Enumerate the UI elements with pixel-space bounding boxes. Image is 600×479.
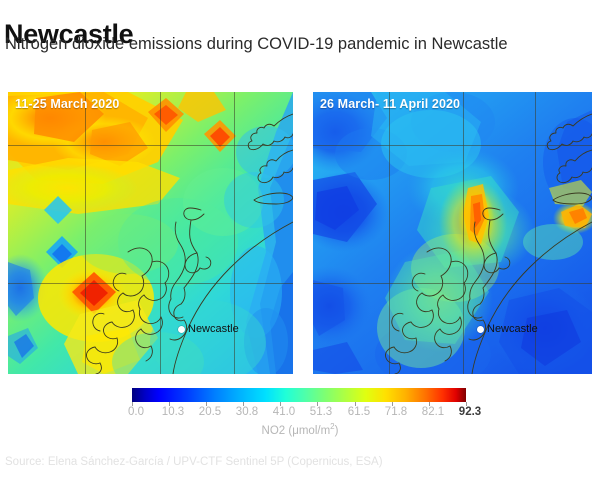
panel-label-before: 11-25 March 2020 bbox=[15, 97, 119, 111]
city-dot-icon bbox=[178, 326, 185, 333]
colorbar-axis-label: NO2 (μmol/m2) bbox=[0, 422, 600, 437]
map-panel-before[interactable]: Newcastle 11-25 March 2020 bbox=[8, 92, 293, 374]
colorbar-gradient bbox=[132, 388, 466, 402]
no2-heatmap-after bbox=[313, 92, 592, 374]
city-label: Newcastle bbox=[188, 323, 239, 335]
colorbar-tick-4: 41.0 bbox=[273, 406, 295, 418]
visualization-root: Newcastle Nitrogen dioxide emissions dur… bbox=[0, 0, 600, 479]
colorbar-axis-label-prefix: NO2 (μmol/m bbox=[262, 425, 331, 437]
colorbar-tick-1: 10.3 bbox=[162, 406, 184, 418]
colorbar-tick-3: 30.8 bbox=[236, 406, 258, 418]
city-label: Newcastle bbox=[487, 323, 538, 335]
colorbar-tick-labels: 0.0 10.3 20.5 30.8 41.0 51.3 61.5 71.8 8… bbox=[0, 406, 600, 422]
source-credit: Source: Elena Sánchez-García / UPV-CTF S… bbox=[5, 456, 383, 468]
colorbar-tick-7: 71.8 bbox=[385, 406, 407, 418]
panel-label-after: 26 March- 11 April 2020 bbox=[320, 97, 460, 111]
city-dot-icon bbox=[477, 326, 484, 333]
colorbar-tick-0: 0.0 bbox=[128, 406, 144, 418]
colorbar-axis-label-suffix: ) bbox=[335, 425, 339, 437]
colorbar: 0.0 10.3 20.5 30.8 41.0 51.3 61.5 71.8 8… bbox=[0, 386, 600, 446]
colorbar-tick-9: 92.3 bbox=[459, 406, 481, 418]
map-panel-after[interactable]: Newcastle 26 March- 11 April 2020 bbox=[313, 92, 592, 374]
map-panels: Newcastle 11-25 March 2020 bbox=[0, 92, 600, 374]
colorbar-tick-2: 20.5 bbox=[199, 406, 221, 418]
colorbar-tick-8: 82.1 bbox=[422, 406, 444, 418]
no2-heatmap-before bbox=[8, 92, 293, 374]
colorbar-tick-5: 51.3 bbox=[310, 406, 332, 418]
colorbar-tick-6: 61.5 bbox=[348, 406, 370, 418]
page-subtitle: Nitrogen dioxide emissions during COVID-… bbox=[5, 34, 565, 56]
